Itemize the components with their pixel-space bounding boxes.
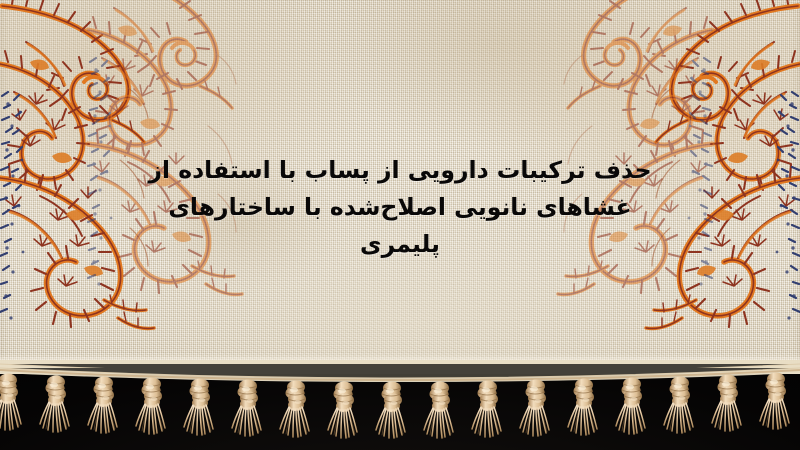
title-line-3: پلیمری <box>120 226 680 263</box>
title-line-2: غشاهای نانویی اصلاح‌شده با ساختارهای <box>120 189 680 226</box>
cloth-hem <box>0 354 800 374</box>
slide-canvas: حذف ترکیبات دارویی از پساب با استفاده از… <box>0 0 800 450</box>
title-line-1: حذف ترکیبات دارویی از پساب با استفاده از <box>120 152 680 189</box>
slide-title: حذف ترکیبات دارویی از پساب با استفاده از… <box>120 152 680 263</box>
